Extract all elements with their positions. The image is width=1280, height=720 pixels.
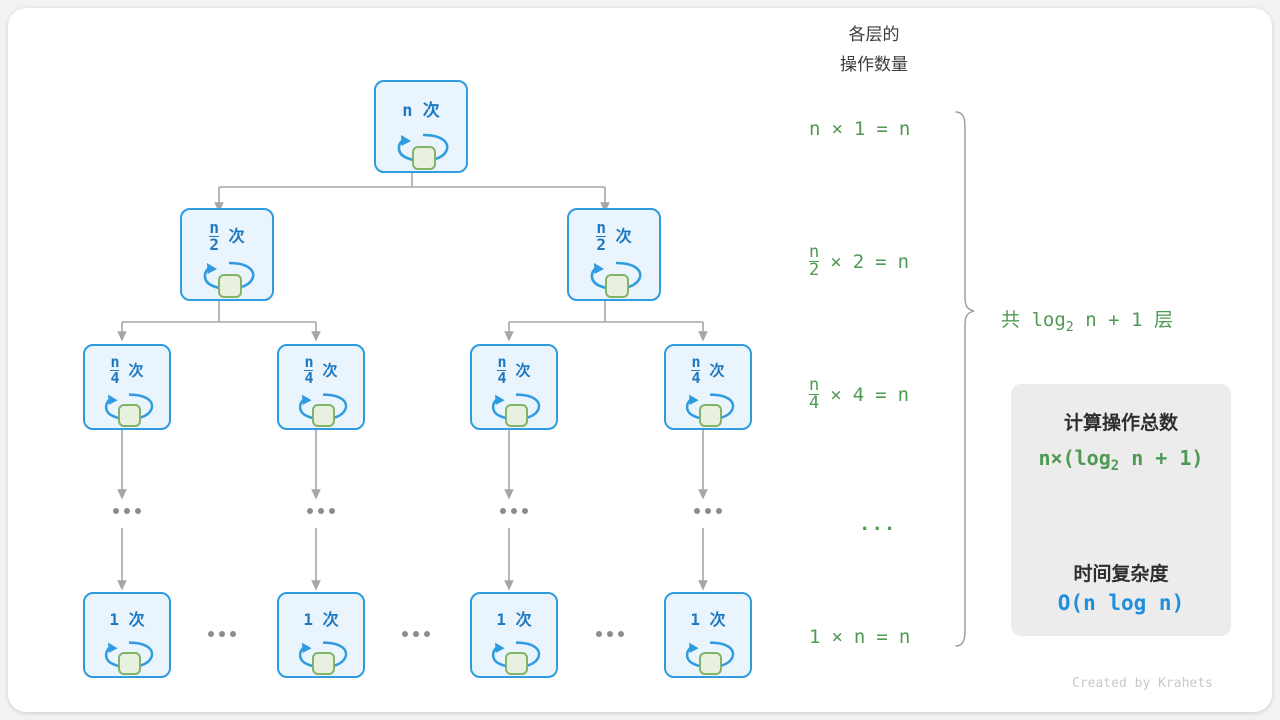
- annotation-multiplier: 4: [853, 384, 864, 406]
- annotation-result: n: [898, 251, 909, 273]
- brace-label-arg: n: [1085, 309, 1096, 331]
- node-count-label: 1 次: [472, 606, 556, 630]
- equals-symbol: =: [875, 251, 886, 273]
- node-count-label: n2 次: [569, 220, 659, 254]
- node-count-label: n4 次: [472, 355, 556, 387]
- summary-formula-prefix: n×(log: [1039, 446, 1111, 470]
- tree-node-last-3: 1 次: [470, 592, 558, 678]
- annotation-row-2: n4 × 4 = n: [809, 377, 909, 413]
- tree-node-l2-2: n4 次: [277, 344, 365, 430]
- annotation-row-last: 1 × n = n: [809, 626, 910, 648]
- tree-node-l1-left: n2 次: [180, 208, 274, 301]
- annotation-fraction: n4: [809, 377, 819, 413]
- summary-formula: n×(log2 n + 1): [1011, 446, 1231, 474]
- tree-node-l2-3: n4 次: [470, 344, 558, 430]
- annotation-result: n: [899, 118, 910, 140]
- summary-result-title: 时间复杂度: [1011, 559, 1231, 586]
- node-inner-box: [605, 274, 629, 298]
- brace-label-one: 1: [1131, 309, 1142, 331]
- times-symbol: ×: [831, 118, 842, 140]
- credit-label: Created by Krahets: [1072, 676, 1213, 691]
- brace-label-prefix: 共: [1001, 309, 1020, 331]
- annotation-multiplier: n: [854, 626, 865, 648]
- brace-label-plus: +: [1108, 309, 1119, 331]
- node-inner-box: [312, 404, 335, 427]
- equals-symbol: =: [875, 384, 886, 406]
- brace-label-log: log: [1031, 309, 1065, 331]
- times-symbol: ×: [830, 251, 841, 273]
- horizontal-ellipsis: [208, 631, 236, 637]
- vertical-ellipsis: [113, 508, 141, 514]
- diagram-card: n 次 n2 次 n2 次: [8, 8, 1272, 712]
- node-inner-box: [118, 652, 141, 675]
- tree-node-l2-4: n4 次: [664, 344, 752, 430]
- times-symbol: ×: [831, 626, 842, 648]
- node-count-label: n4 次: [85, 355, 169, 387]
- node-inner-box: [699, 652, 722, 675]
- tree-node-l1-right: n2 次: [567, 208, 661, 301]
- node-count-label: n4 次: [666, 355, 750, 387]
- column-header-line1: 各层的: [794, 20, 954, 50]
- node-inner-box: [118, 404, 141, 427]
- annotation-row-1: n2 × 2 = n: [809, 244, 909, 280]
- annotation-result: n: [898, 384, 909, 406]
- node-count-label: n4 次: [279, 355, 363, 387]
- annotation-row-0: n × 1 = n: [809, 118, 910, 140]
- times-symbol: ×: [830, 384, 841, 406]
- node-count-label: 1 次: [666, 606, 750, 630]
- node-inner-box: [505, 652, 528, 675]
- annotation-multiplier: 1: [854, 118, 865, 140]
- node-count-label: n 次: [376, 96, 466, 121]
- node-inner-box: [312, 652, 335, 675]
- horizontal-ellipsis: [596, 631, 624, 637]
- brace-label-suffix: 层: [1154, 309, 1173, 331]
- node-count-label: 1 次: [279, 606, 363, 630]
- tree-node-root: n 次: [374, 80, 468, 173]
- summary-formula-base: 2: [1111, 458, 1119, 474]
- summary-result-value: O(n log n): [1011, 591, 1231, 615]
- tree-node-last-4: 1 次: [664, 592, 752, 678]
- node-inner-box: [218, 274, 242, 298]
- summary-box: 计算操作总数 n×(log2 n + 1) 时间复杂度 O(n log n): [1011, 384, 1231, 636]
- annotation-result: n: [899, 626, 910, 648]
- vertical-ellipsis: [694, 508, 722, 514]
- levels-brace: [956, 112, 974, 646]
- summary-formula-rest: n + 1): [1119, 446, 1203, 470]
- horizontal-ellipsis: [402, 631, 430, 637]
- tree-node-l2-1: n4 次: [83, 344, 171, 430]
- vertical-ellipsis: [500, 508, 528, 514]
- annotation-multiplier: 2: [853, 251, 864, 273]
- diagram-stage: n 次 n2 次 n2 次: [8, 8, 1272, 712]
- node-inner-box: [505, 404, 528, 427]
- brace-label: 共 log2 n + 1 层: [1001, 305, 1173, 335]
- tree-node-last-2: 1 次: [277, 592, 365, 678]
- annotation-left: n: [809, 118, 820, 140]
- node-count-label: n2 次: [182, 220, 272, 254]
- annotation-fraction: n2: [809, 244, 819, 280]
- vertical-ellipsis: [307, 508, 335, 514]
- column-header-line2: 操作数量: [794, 50, 954, 80]
- node-count-label: 1 次: [85, 606, 169, 630]
- tree-node-last-1: 1 次: [83, 592, 171, 678]
- node-inner-box: [412, 146, 436, 170]
- node-inner-box: [699, 404, 722, 427]
- summary-title: 计算操作总数: [1011, 408, 1231, 435]
- annotation-left: 1: [809, 626, 820, 648]
- annotation-ellipsis: ...: [859, 513, 896, 535]
- equals-symbol: =: [876, 626, 887, 648]
- brace-label-base: 2: [1066, 320, 1074, 335]
- equals-symbol: =: [876, 118, 887, 140]
